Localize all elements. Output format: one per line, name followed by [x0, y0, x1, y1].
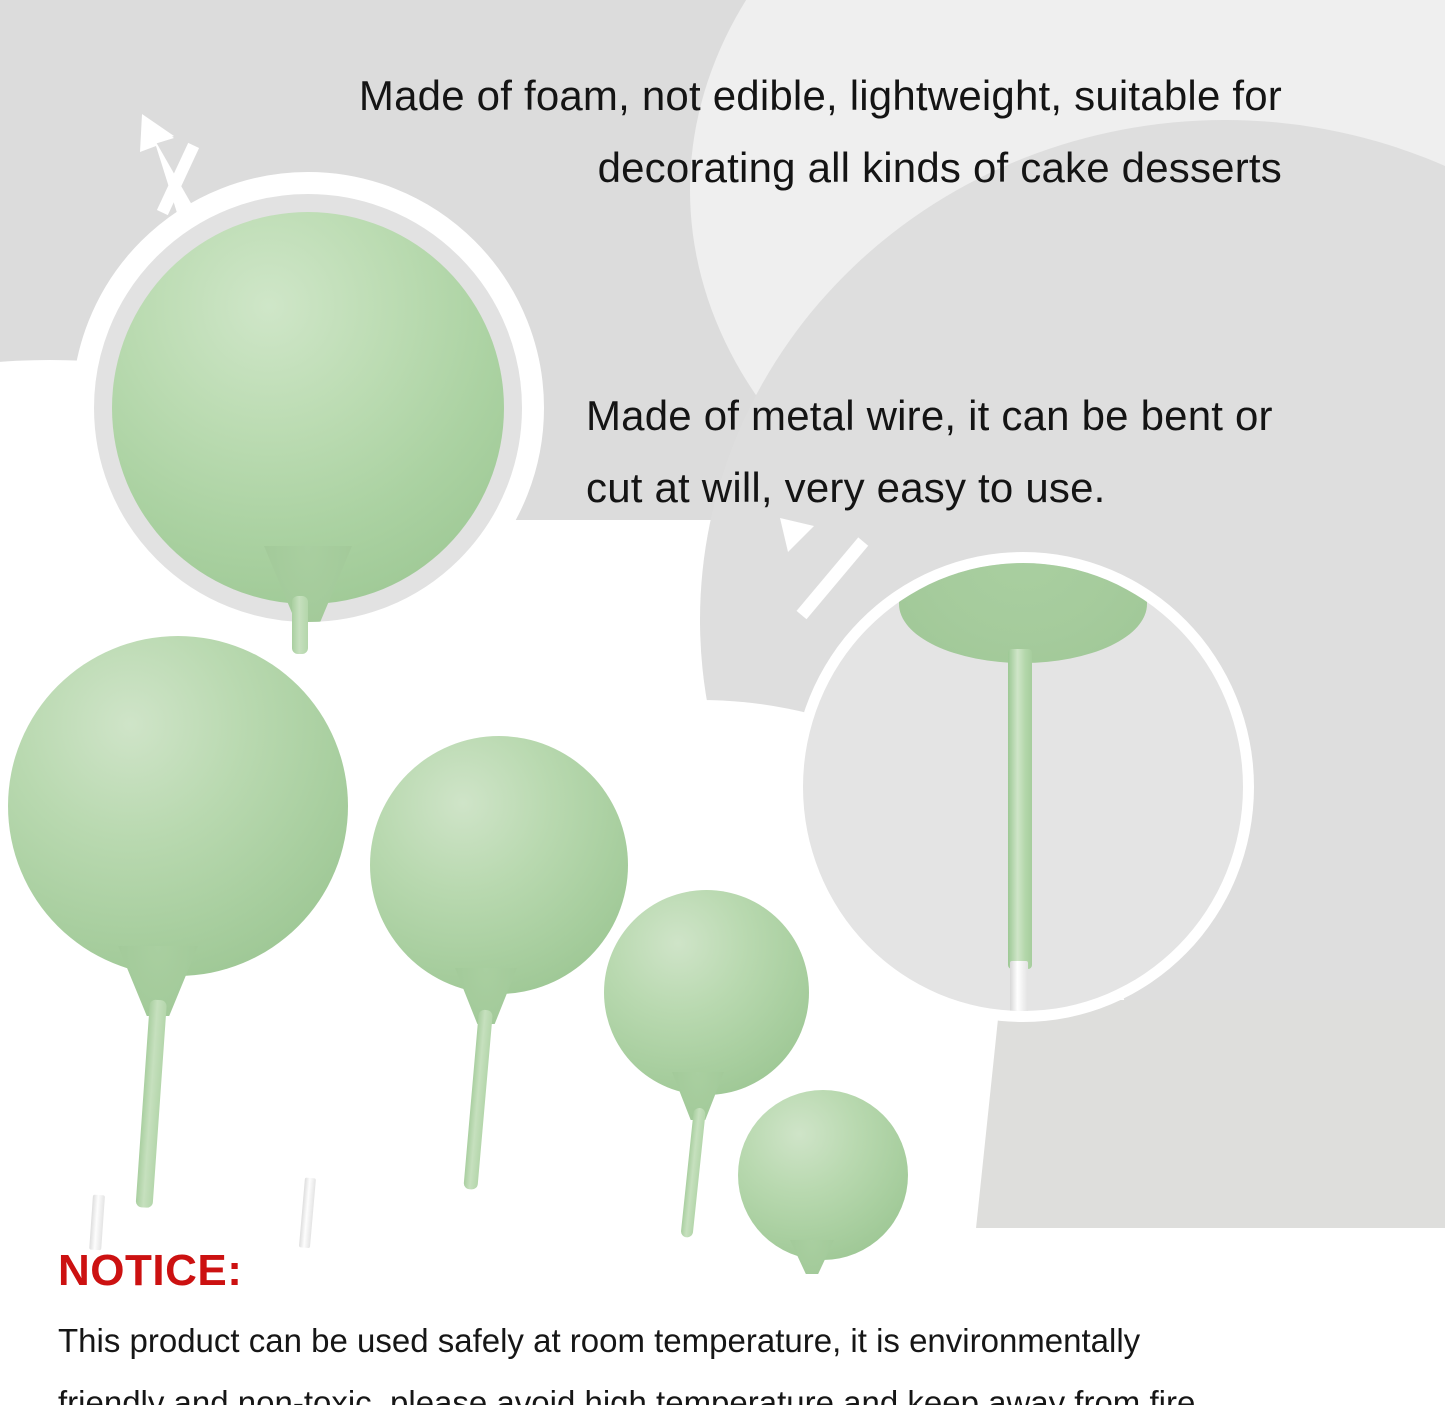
magnified-foam-ball	[112, 212, 504, 604]
notice-body: This product can be used safely at room …	[58, 1310, 1408, 1405]
notice-title: NOTICE:	[58, 1246, 242, 1296]
product-infographic: Made of foam, not edible, lightweight, s…	[0, 0, 1445, 1405]
caption-wire: Made of metal wire, it can be bent or cu…	[586, 380, 1431, 524]
foam-ball-medium	[604, 890, 809, 1095]
foam-ball-extra-large	[8, 636, 348, 976]
magnified-wire-flare	[899, 552, 1147, 663]
magnified-ball-stem	[292, 596, 308, 654]
caption-foam: Made of foam, not edible, lightweight, s…	[112, 60, 1282, 204]
foam-ball-large	[370, 736, 628, 994]
magnified-wire-shaft	[1008, 649, 1032, 969]
background-bottom-right-panel	[976, 1000, 1445, 1230]
magnified-wire-metal-tip	[1010, 961, 1028, 1017]
foam-ball-small	[738, 1090, 908, 1260]
callout-arrow-wire	[766, 506, 906, 638]
